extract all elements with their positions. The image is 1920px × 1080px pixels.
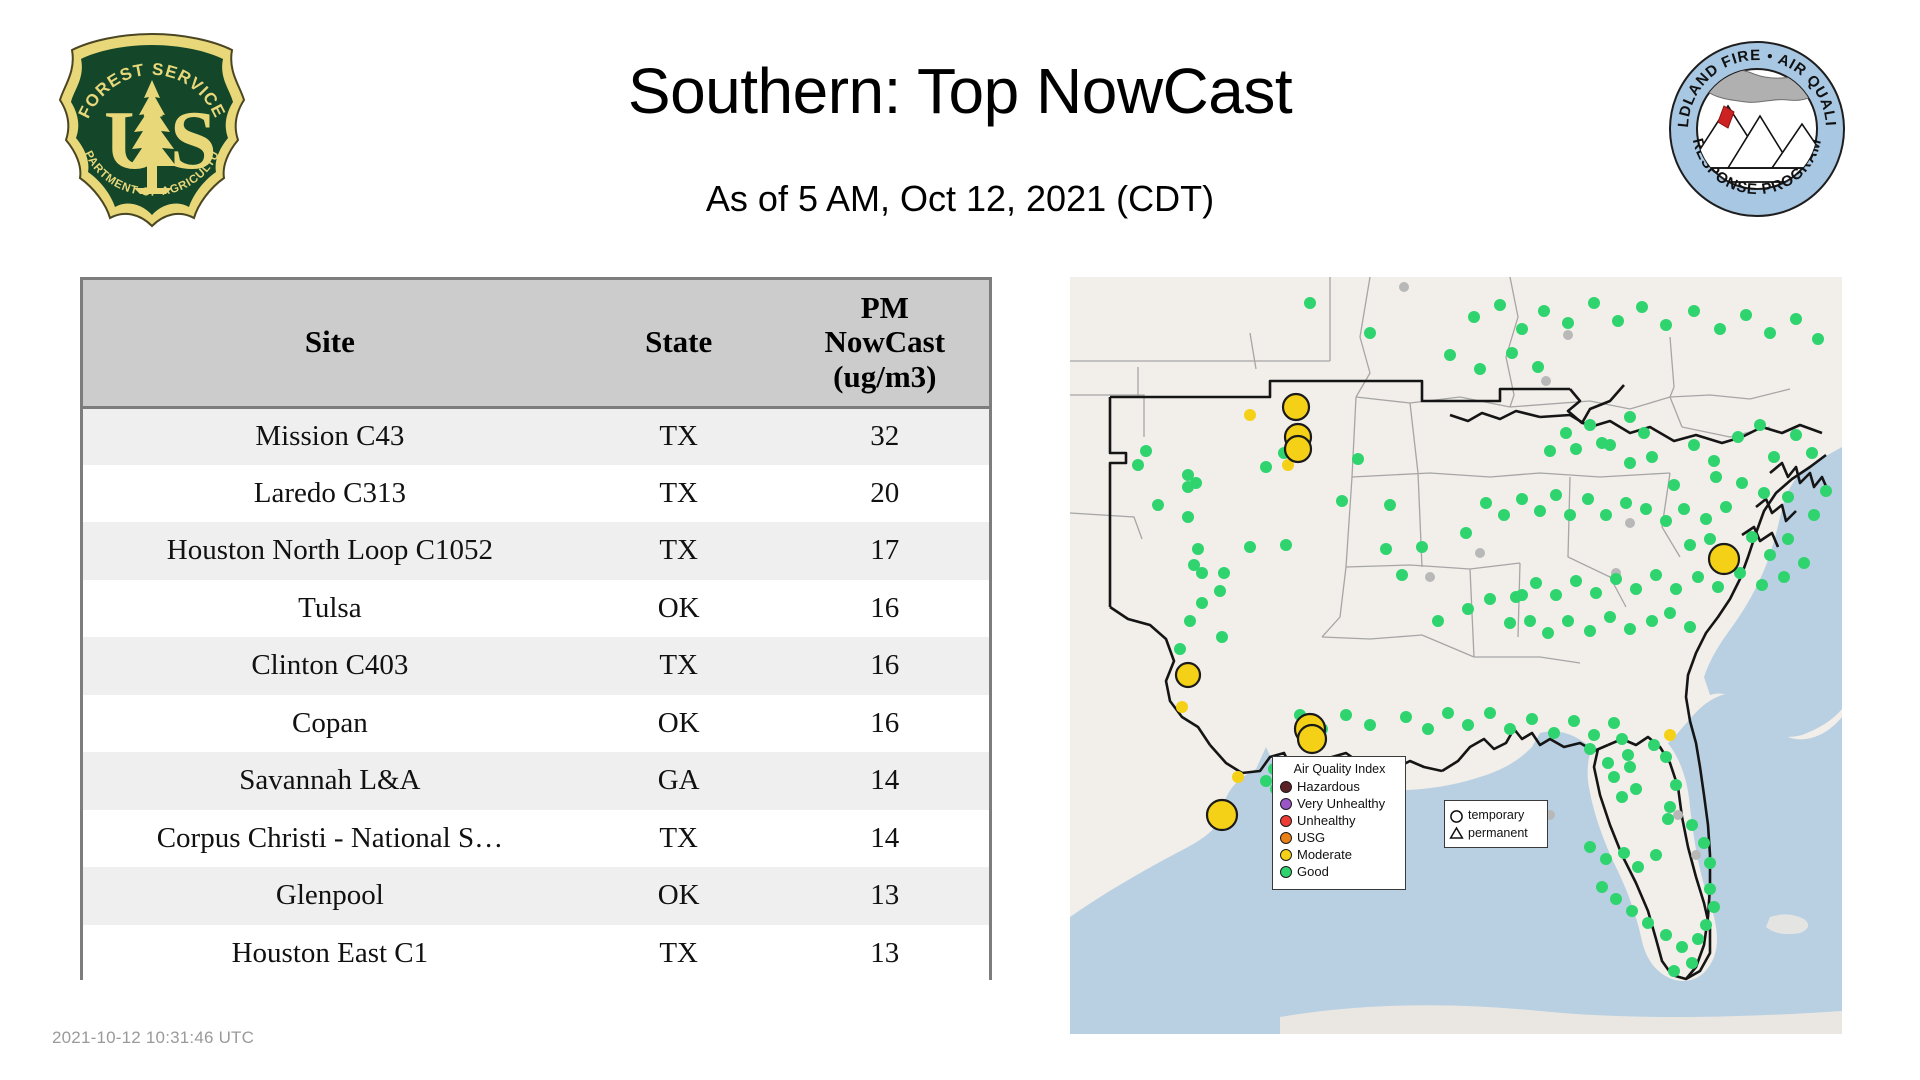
table-cell-state: OK [577,867,781,925]
aqi-legend-swatch [1280,798,1292,810]
site-marker-laredo [1207,800,1237,830]
monitor-legend-labels: temporary permanent [1468,807,1528,841]
table-cell-site: Savannah L&A [83,752,577,810]
table-cell-state: GA [577,752,781,810]
usfs-shield-svg: FOREST SERVICE DEPARTMENT OF AGRICULTURE… [52,28,252,238]
page-subtitle: As of 5 AM, Oct 12, 2021 (CDT) [300,178,1620,220]
nowcast-table: Site State PM NowCast (ug/m3) Mission C4… [83,280,989,982]
table-cell-site: Clinton C403 [83,637,577,695]
permanent-triangle-icon [1449,826,1464,840]
site-marker-clinton [1176,663,1200,687]
column-header-pm[interactable]: PM NowCast (ug/m3) [781,280,989,407]
wfaqrp-logo-svg: WILDLAND FIRE • AIR QUALITY RESPONSE PRO… [1668,40,1846,218]
table-cell-state: TX [577,522,781,580]
site-marker-savannah [1709,544,1739,574]
table-cell-pm: 16 [781,580,989,638]
aqi-legend-rows: HazardousVery UnhealthyUnhealthyUSGModer… [1280,778,1399,880]
monitor-legend-label-temporary: temporary [1468,807,1528,824]
monitor-legend-symbols [1449,809,1464,840]
usfs-letter-s: S [170,94,217,187]
southern-region-map[interactable] [1070,277,1842,1034]
table-cell-state: TX [577,637,781,695]
aqi-legend-item: USG [1280,829,1399,846]
aqi-legend-label: Good [1297,865,1329,878]
table-cell-pm: 17 [781,522,989,580]
table-row[interactable]: Corpus Christi - National S…TX14 [83,810,989,868]
aqi-legend-item: Moderate [1280,846,1399,863]
aqi-legend-item: Very Unhealthy [1280,795,1399,812]
table-cell-site: Laredo C313 [83,465,577,523]
table-cell-state: TX [577,465,781,523]
table-row[interactable]: Houston North Loop C1052TX17 [83,522,989,580]
table-cell-site: Tulsa [83,580,577,638]
map-panel[interactable] [1070,277,1842,1034]
aqi-legend-label: USG [1297,831,1325,844]
column-header-pm-line1: PM [787,291,983,326]
table-cell-pm: 14 [781,810,989,868]
aqi-legend-label: Very Unhealthy [1297,797,1385,810]
monitor-type-legend: temporary permanent [1444,800,1548,848]
column-header-state[interactable]: State [577,280,781,407]
table-cell-pm: 16 [781,695,989,753]
table-cell-pm: 20 [781,465,989,523]
column-header-pm-line3: (ug/m3) [787,360,983,395]
wfaqrp-logo: WILDLAND FIRE • AIR QUALITY RESPONSE PRO… [1668,40,1846,218]
usfs-shield-logo: FOREST SERVICE DEPARTMENT OF AGRICULTURE… [52,28,252,238]
column-header-site[interactable]: Site [83,280,577,407]
aqi-legend-item: Hazardous [1280,778,1399,795]
table-cell-pm: 16 [781,637,989,695]
table-cell-pm: 13 [781,925,989,983]
table-cell-site: Houston East C1 [83,925,577,983]
table-cell-site: Copan [83,695,577,753]
table-cell-site: Glenpool [83,867,577,925]
nowcast-table-panel: Site State PM NowCast (ug/m3) Mission C4… [80,277,992,980]
table-cell-state: OK [577,580,781,638]
table-cell-state: TX [577,925,781,983]
column-header-pm-line2: NowCast [787,325,983,360]
table-cell-pm: 14 [781,752,989,810]
page-title: Southern: Top NowCast [300,58,1620,125]
table-row[interactable]: Mission C43TX32 [83,407,989,465]
site-marker-tulsa [1283,394,1309,420]
aqi-legend-item: Good [1280,863,1399,880]
aqi-legend-swatch [1280,866,1292,878]
aqi-legend-label: Moderate [1297,848,1352,861]
aqi-legend-label: Hazardous [1297,780,1360,793]
aqi-legend-swatch [1280,781,1292,793]
table-row[interactable]: CopanOK16 [83,695,989,753]
table-cell-state: TX [577,810,781,868]
aqi-legend-swatch [1280,849,1292,861]
table-row[interactable]: GlenpoolOK13 [83,867,989,925]
footer-timestamp: 2021-10-12 10:31:46 UTC [52,1028,254,1048]
aqi-legend-swatch [1280,832,1292,844]
table-row[interactable]: Clinton C403TX16 [83,637,989,695]
nowcast-table-body: Mission C43TX32Laredo C313TX20Houston No… [83,407,989,982]
site-marker-copan [1285,436,1311,462]
table-cell-site: Mission C43 [83,407,577,465]
aqi-legend-item: Unhealthy [1280,812,1399,829]
aqi-legend-label: Unhealthy [1297,814,1356,827]
aqi-legend-title: Air Quality Index [1280,762,1399,776]
aqi-legend-swatch [1280,815,1292,827]
monitor-legend-label-permanent: permanent [1468,825,1528,842]
table-cell-site: Houston North Loop C1052 [83,522,577,580]
table-row[interactable]: Laredo C313TX20 [83,465,989,523]
table-header-row: Site State PM NowCast (ug/m3) [83,280,989,407]
table-cell-state: OK [577,695,781,753]
table-row[interactable]: TulsaOK16 [83,580,989,638]
site-marker-houston-east [1298,725,1326,753]
table-row[interactable]: Houston East C1TX13 [83,925,989,983]
aqi-legend: Air Quality Index HazardousVery Unhealth… [1272,756,1406,890]
temporary-circle-icon [1449,809,1464,824]
table-cell-state: TX [577,407,781,465]
table-row[interactable]: Savannah L&AGA14 [83,752,989,810]
table-cell-site: Corpus Christi - National S… [83,810,577,868]
table-cell-pm: 13 [781,867,989,925]
table-cell-pm: 32 [781,407,989,465]
